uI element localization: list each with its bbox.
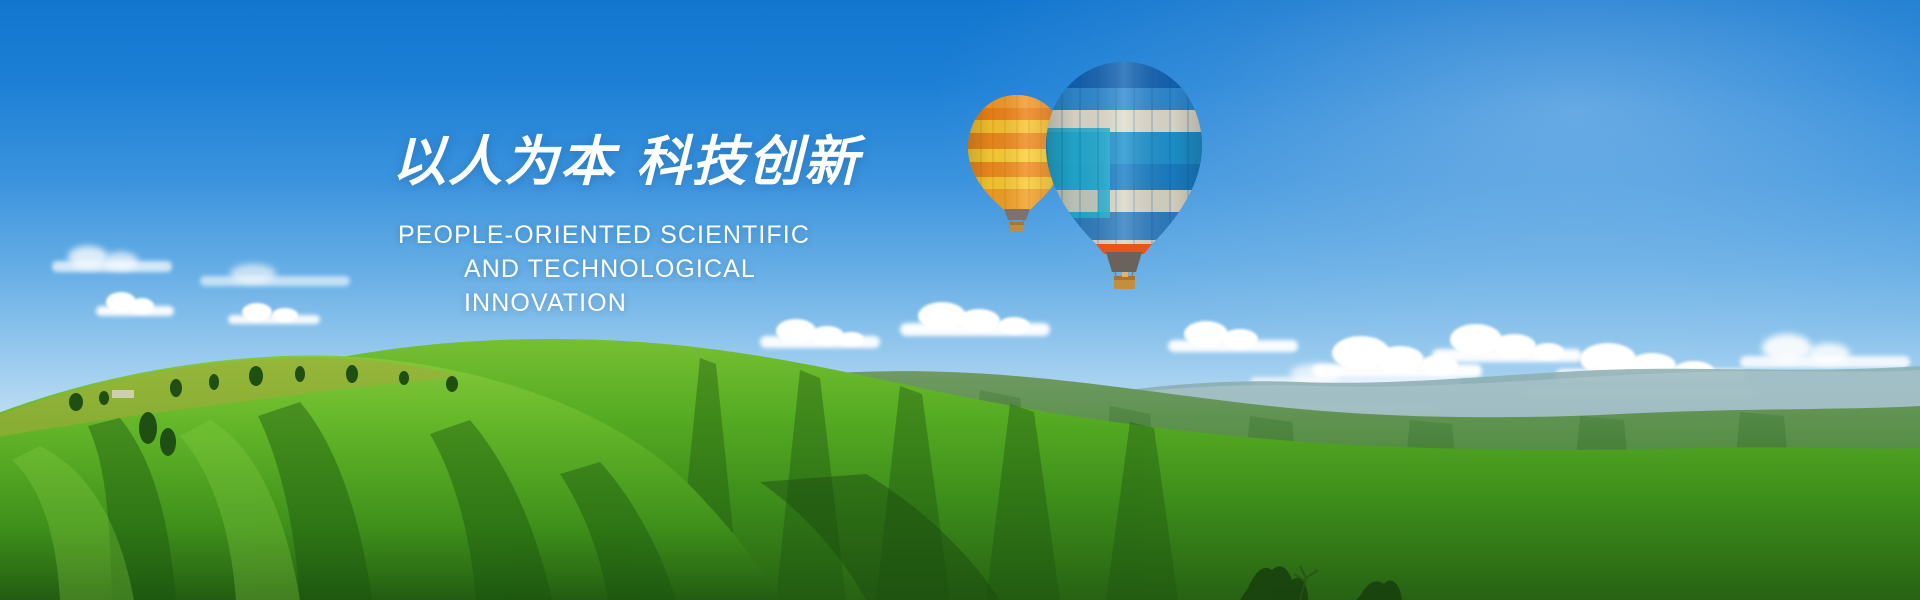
banner-copy: 以人为本科技创新 PEOPLE-ORIENTED SCIENTIFIC AND … <box>392 132 912 320</box>
plateau-building <box>112 390 134 398</box>
headline-part-2: 科技创新 <box>636 130 860 193</box>
banner-subtitle: PEOPLE-ORIENTED SCIENTIFIC AND TECHNOLOG… <box>392 218 912 320</box>
banner-headline: 以人为本科技创新 <box>392 132 912 192</box>
balloon-orange-skirt <box>1004 209 1030 220</box>
landscape <box>0 270 1920 600</box>
balloon-blue <box>1036 58 1212 290</box>
subtitle-line-2: AND TECHNOLOGICAL INNOVATION <box>392 252 912 320</box>
subtitle-line-1: PEOPLE-ORIENTED SCIENTIFIC <box>392 218 912 252</box>
balloon-blue-skirt <box>1106 252 1142 272</box>
hero-banner: 以人为本科技创新 PEOPLE-ORIENTED SCIENTIFIC AND … <box>0 0 1920 600</box>
headline-part-1: 以人为本 <box>392 130 616 193</box>
